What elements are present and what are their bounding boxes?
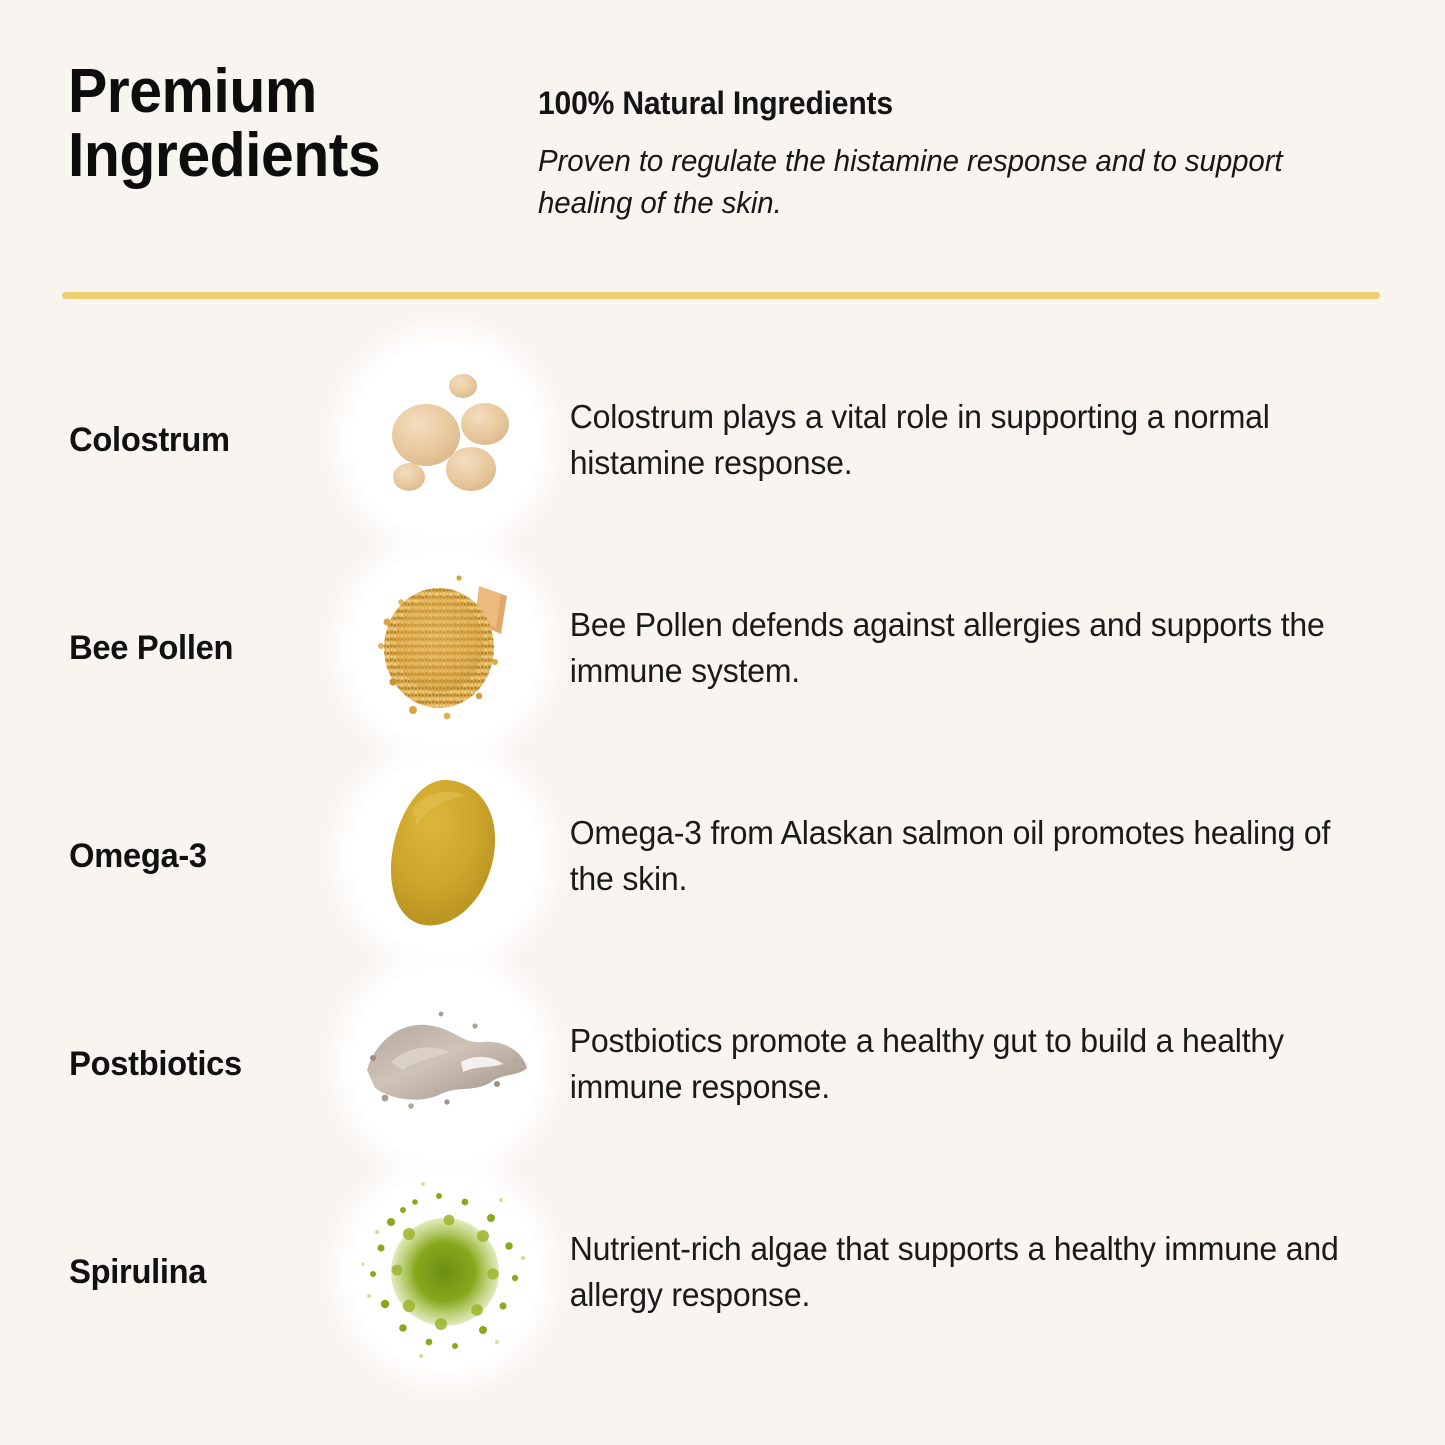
ingredient-row-spirulina: Spirulina	[0, 1168, 1445, 1376]
omega3-oil-droplet-icon	[351, 758, 539, 954]
ingredient-description: Colostrum plays a vital role in supporti…	[560, 394, 1418, 486]
ingredients-infographic: Premium Ingredients 100% Natural Ingredi…	[0, 0, 1445, 1445]
ingredient-description: Bee Pollen defends against allergies and…	[560, 602, 1418, 694]
header: Premium Ingredients 100% Natural Ingredi…	[68, 60, 1383, 223]
colostrum-droplets-icon	[351, 342, 539, 538]
ingredient-image-omega3	[330, 758, 560, 954]
header-text-block: 100% Natural Ingredients Proven to regul…	[538, 60, 1383, 223]
ingredient-row-bee-pollen: Bee Pollen	[0, 544, 1445, 752]
ingredient-name: Bee Pollen	[0, 629, 317, 668]
page-title: Premium Ingredients	[68, 60, 515, 189]
ingredient-list: Colostrum	[0, 336, 1445, 1376]
ingredient-row-colostrum: Colostrum	[0, 336, 1445, 544]
header-subtitle: Proven to regulate the histamine respons…	[538, 140, 1308, 222]
ingredient-row-omega3: Omega-3	[0, 752, 1445, 960]
ingredient-description: Postbiotics promote a healthy gut to bui…	[560, 1018, 1418, 1110]
header-kicker: 100% Natural Ingredients	[538, 84, 1332, 122]
ingredient-row-postbiotics: Postbiotics	[0, 960, 1445, 1168]
bee-pollen-granules-icon	[351, 550, 539, 746]
ingredient-description: Omega-3 from Alaskan salmon oil promotes…	[560, 810, 1418, 902]
ingredient-image-bee-pollen	[330, 550, 560, 746]
postbiotics-powder-icon	[351, 966, 539, 1162]
spirulina-powder-icon	[351, 1174, 539, 1370]
ingredient-name: Postbiotics	[0, 1045, 317, 1084]
ingredient-image-spirulina	[330, 1174, 560, 1370]
ingredient-description: Nutrient-rich algae that supports a heal…	[560, 1226, 1418, 1318]
ingredient-image-colostrum	[330, 342, 560, 538]
ingredient-name: Omega-3	[0, 837, 317, 876]
ingredient-image-postbiotics	[330, 966, 560, 1162]
ingredient-name: Spirulina	[0, 1253, 317, 1292]
ingredient-name: Colostrum	[0, 421, 317, 460]
header-divider	[62, 292, 1380, 299]
